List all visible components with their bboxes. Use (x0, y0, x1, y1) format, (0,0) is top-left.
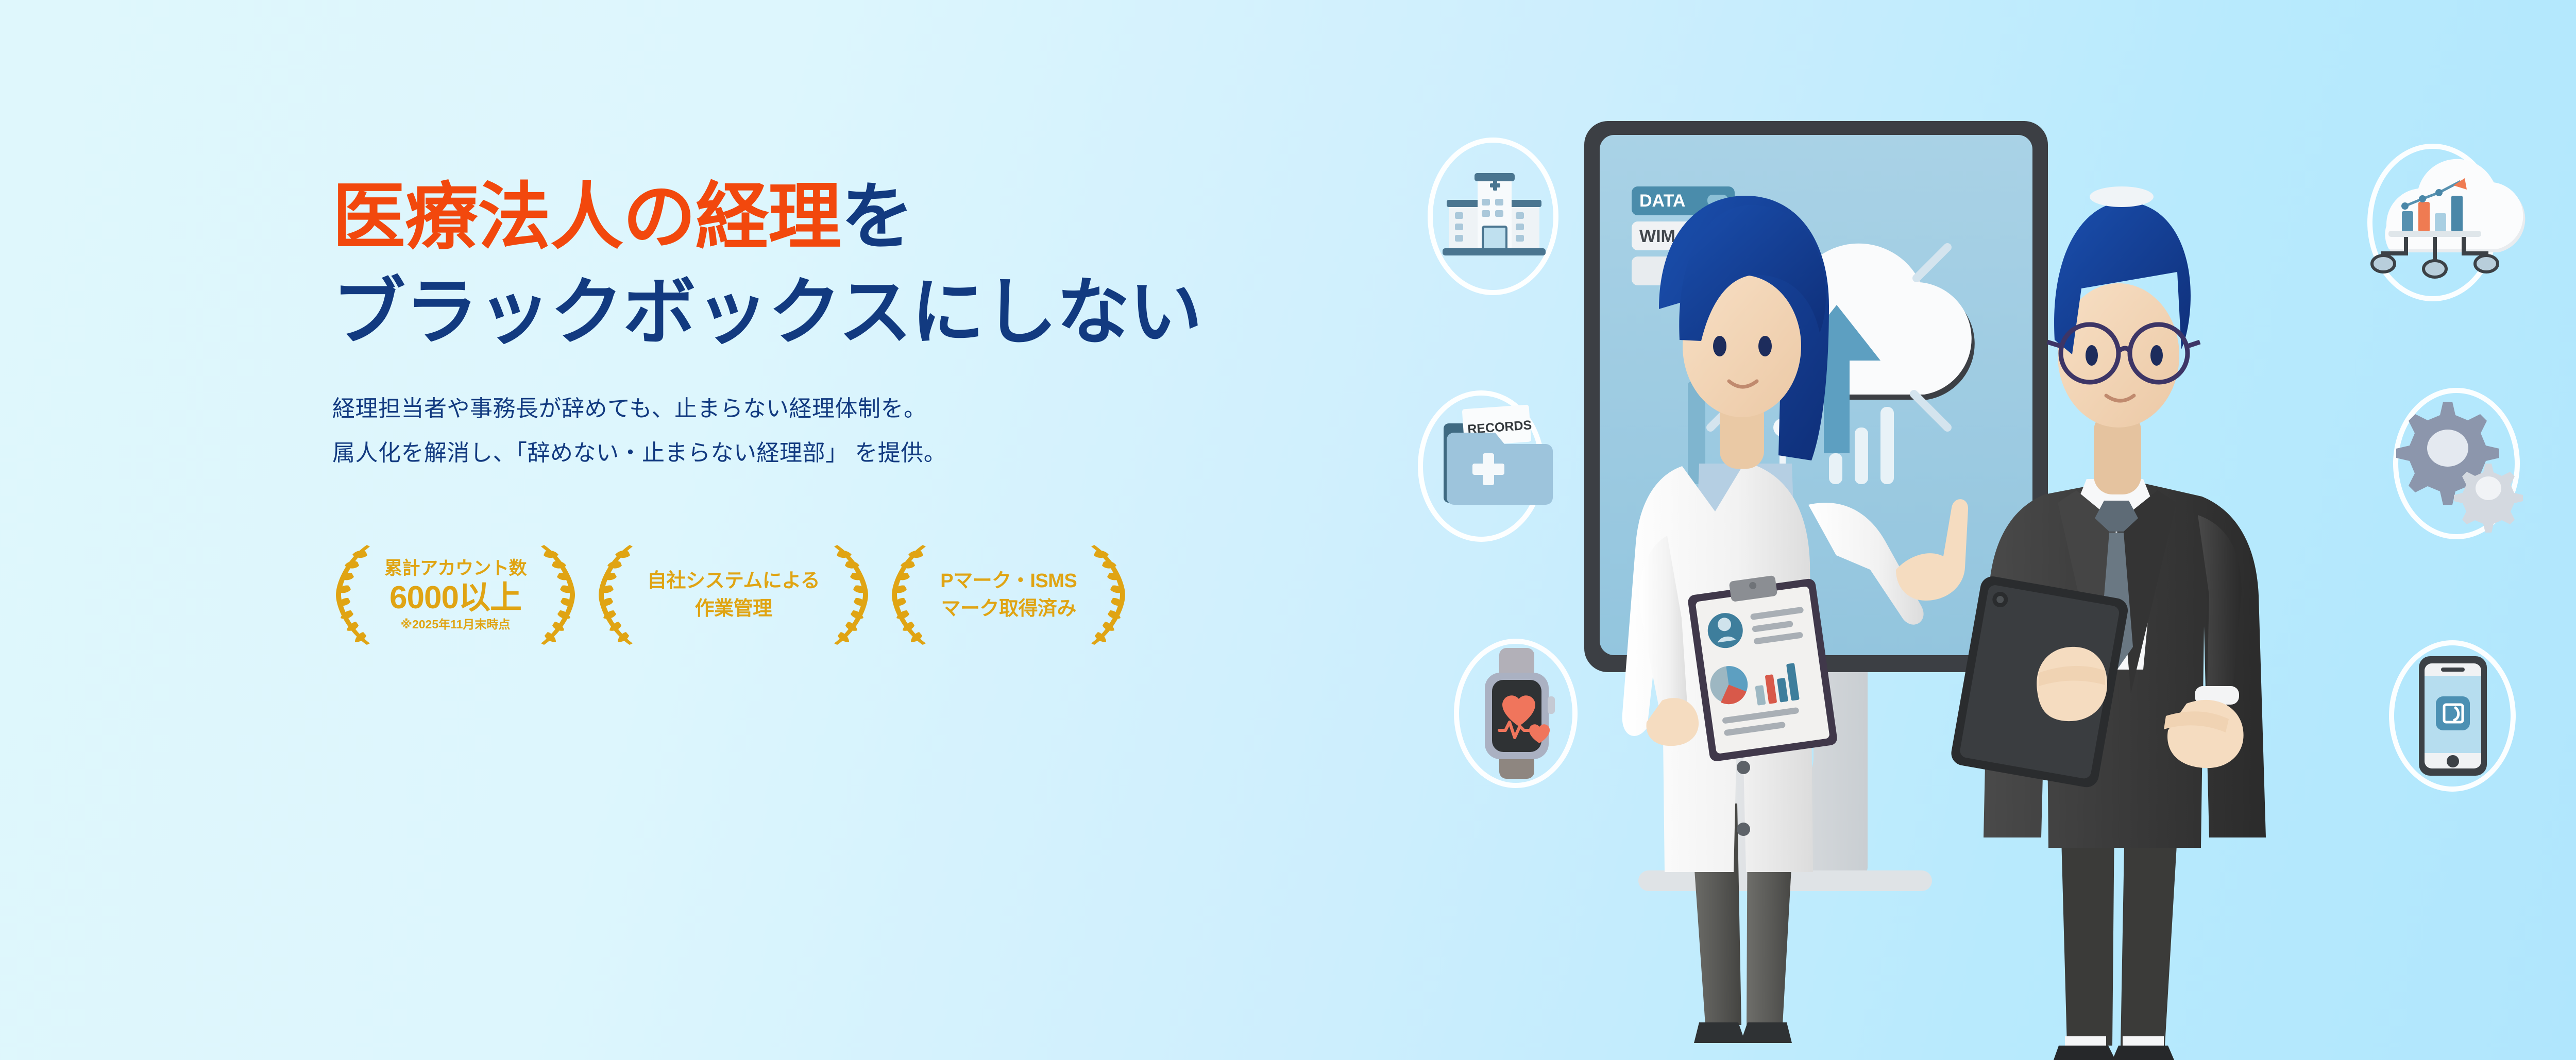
hero-subcopy: 経理担当者や事務長が辞めても、止まらない経理体制を。 属人化を解消し、「辞めない… (332, 387, 1363, 475)
medical-records-folder-icon: RECORDS (1444, 405, 1553, 505)
man-leg-right (2121, 819, 2178, 1046)
illustration-svg: DATA WIM (1401, 0, 2576, 1060)
man-hand-left (2037, 647, 2107, 721)
woman-eye-left (1713, 336, 1726, 356)
laurel-right-icon (823, 543, 874, 646)
hero-copy-block: 医療法人の経理を ブラックボックスにしない 経理担当者や事務長が辞めても、止まら… (332, 170, 1363, 475)
hospital-building-icon (1443, 173, 1546, 255)
woman-shoe-left (1694, 1022, 1745, 1043)
man-eye-left (2086, 345, 2098, 366)
clipboard-report (1686, 570, 1838, 762)
icon-bubble-gears (2396, 390, 2523, 537)
badge-cumulative-accounts: 累計アカウント数 6000以上 ※2025年11月末時点 (330, 543, 581, 646)
man-shoe-left (2054, 1046, 2115, 1060)
laurel-left-icon (886, 543, 937, 646)
headline-line-2: ブラックボックスにしない (332, 265, 1363, 361)
badge-text-block: 累計アカウント数 6000以上 ※2025年11月末時点 (381, 558, 530, 631)
woman-eye-right (1758, 336, 1772, 356)
smartwatch-heartrate-icon (1485, 648, 1555, 779)
icon-bubble-hospital (1430, 140, 1556, 293)
woman-shoe-right (1740, 1022, 1792, 1043)
headline-navy-particle: を (841, 176, 913, 258)
badge-footnote: ※2025年11月末時点 (384, 618, 527, 631)
badge-line-2: 作業管理 (647, 598, 820, 620)
man-shoe-right (2112, 1046, 2174, 1060)
laurel-right-icon (530, 543, 581, 646)
headline-orange-part: 医療法人の経理 (332, 176, 841, 258)
man-leg-left (2061, 819, 2114, 1046)
mobile-app-icon (2419, 656, 2487, 776)
panel-wim-label: WIM (1639, 227, 1675, 246)
icon-bubble-smartwatch (1456, 641, 1575, 785)
badge-text-block: 自社システムによる 作業管理 (644, 570, 823, 620)
woman-hand-left (1647, 698, 1699, 746)
panel-data-label: DATA (1639, 191, 1685, 211)
laurel-left-icon (592, 543, 644, 646)
badge-metric: 6000以上 (384, 580, 527, 616)
cloud-analytics-icon (2372, 159, 2525, 277)
woman-coat-button-2 (1737, 823, 1750, 836)
badge-pmark-isms: Pマーク・ISMS マーク取得済み (886, 543, 1131, 646)
man-head-highlight (2090, 186, 2154, 207)
laurel-left-icon (330, 543, 381, 646)
icon-bubble-mobile-app (2392, 643, 2513, 789)
badge-line-1: Pマーク・ISMS (940, 570, 1077, 592)
icon-bubble-cloud-analytics (2370, 146, 2525, 299)
badge-in-house-system: 自社システムによる 作業管理 (592, 543, 874, 646)
trust-badge-row: 累計アカウント数 6000以上 ※2025年11月末時点 (330, 543, 1131, 646)
badge-headline: 累計アカウント数 (384, 558, 527, 578)
subcopy-line-1: 経理担当者や事務長が辞めても、止まらない経理体制を。 (332, 387, 1363, 431)
woman-coat-button-1 (1737, 761, 1750, 774)
page-title: 医療法人の経理を ブラックボックスにしない (332, 170, 1363, 360)
badge-line-2: マーク取得済み (940, 598, 1077, 620)
man-eye-right (2150, 345, 2163, 366)
badge-text-block: Pマーク・ISMS マーク取得済み (937, 570, 1080, 620)
badge-line-1: 自社システムによる (647, 570, 820, 592)
laurel-right-icon (1080, 543, 1131, 646)
hero-illustration: DATA WIM (1401, 0, 2576, 1060)
subcopy-line-2: 属人化を解消し、「辞めない・止まらない経理部」 を提供。 (332, 431, 1363, 475)
icon-bubble-records: RECORDS (1420, 393, 1553, 539)
